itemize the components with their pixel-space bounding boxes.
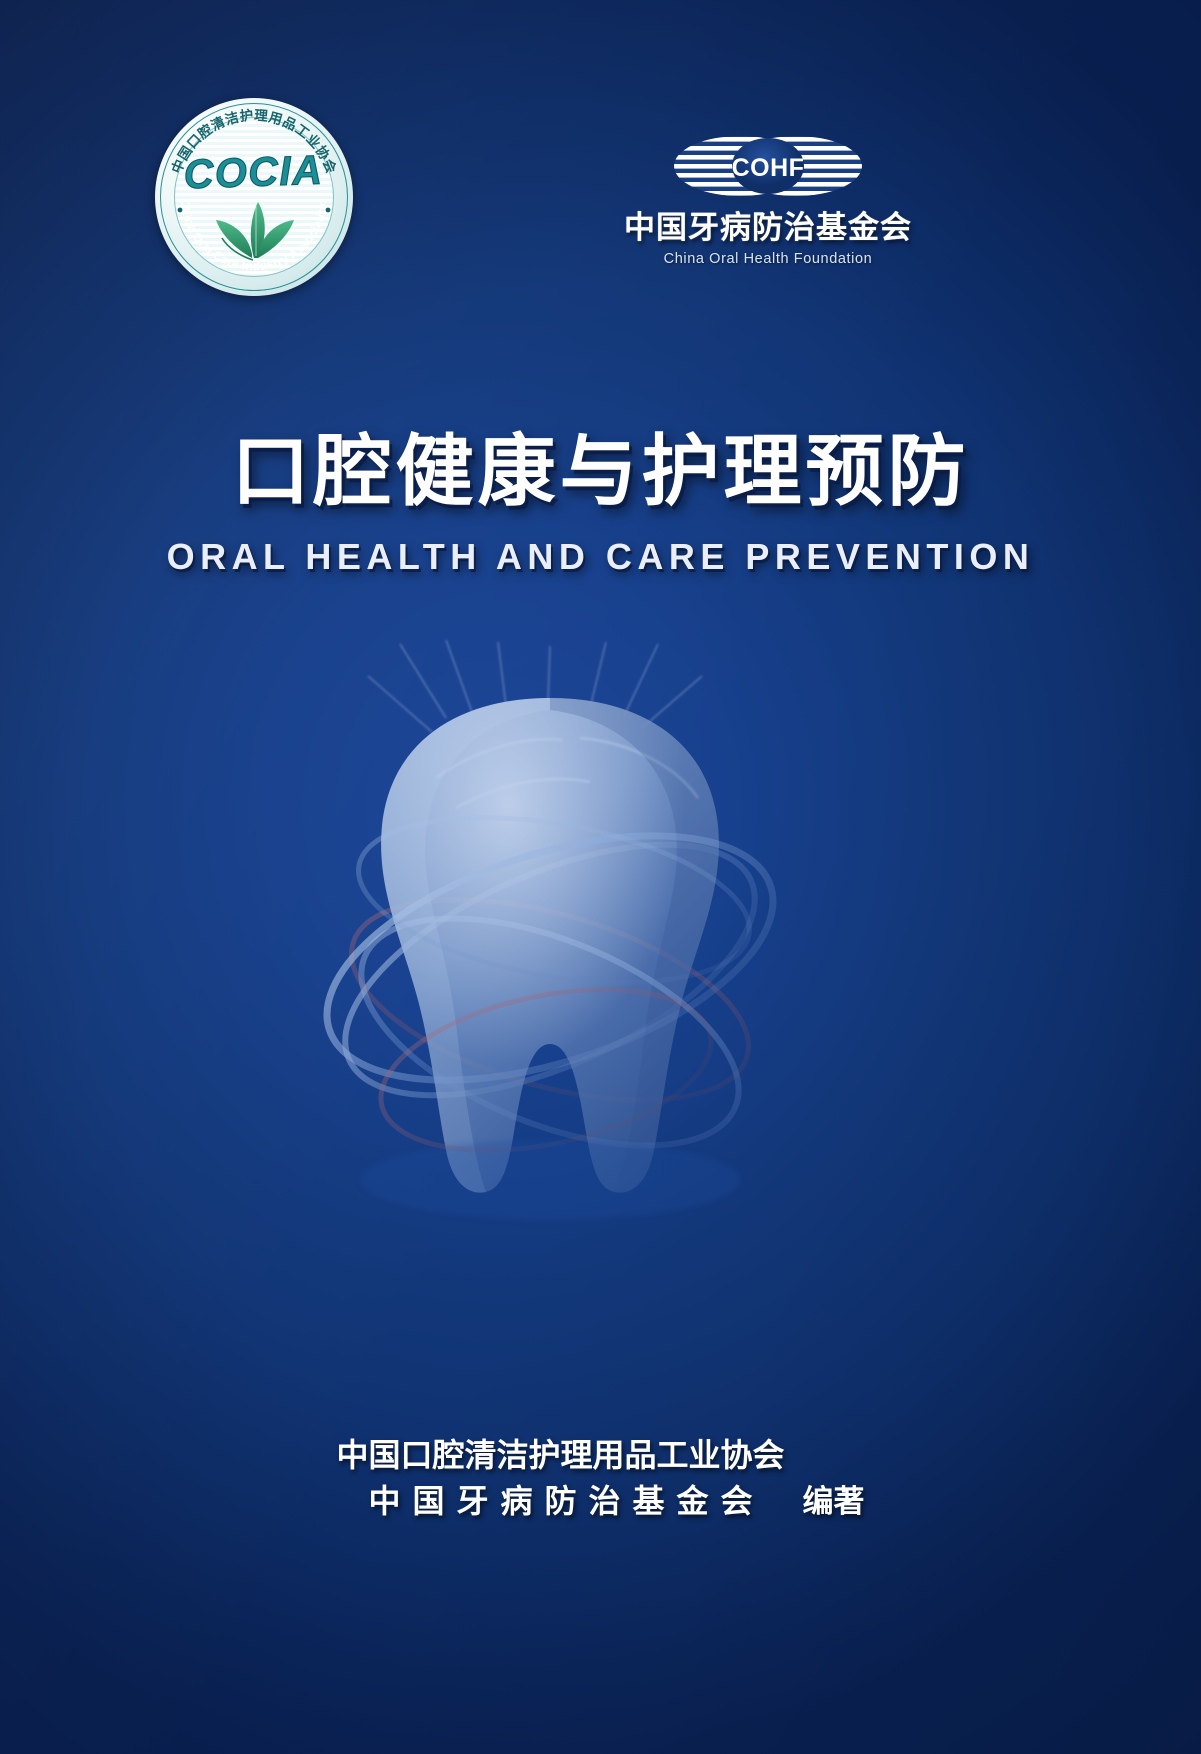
cohf-logo-graphics: COHF [668,130,868,202]
cocia-logo: 中国口腔清洁护理用品工业协会 China Oral Care Industry … [155,98,353,296]
author-line-2: 中国牙病防治基金会 [336,1478,784,1524]
author-role-label: 编著 [803,1476,865,1525]
cohf-logo-mark: COHF [668,130,868,202]
cocia-dot-right [326,208,331,213]
cohf-name-cn: 中国牙病防治基金会 [603,212,933,245]
tooth-graphics [250,640,870,1260]
tooth-ground-glow [360,1140,740,1220]
author-block: 中国口腔清洁护理用品工业协会 中国牙病防治基金会 编著 [0,1432,1201,1525]
book-title-en: ORAL HEALTH AND CARE PREVENTION [0,536,1201,578]
cocia-dot-left [178,208,183,213]
cohf-name-en: China Oral Health Foundation [603,251,933,267]
cocia-wordmark: COCIA [183,147,324,198]
title-block: 口腔健康与护理预防 ORAL HEALTH AND CARE PREVENTIO… [0,432,1201,578]
cocia-leaf-cluster [216,202,294,260]
cohf-acronym: COHF [732,154,805,182]
tooth-illustration [250,640,870,1260]
svg-text:COCIA: COCIA [183,147,324,198]
author-line-1: 中国口腔清洁护理用品工业协会 [336,1432,784,1478]
tooth-body [381,698,719,1193]
cocia-logo-graphics: 中国口腔清洁护理用品工业协会 China Oral Care Industry … [155,98,353,296]
author-names: 中国口腔清洁护理用品工业协会 中国牙病防治基金会 [336,1432,784,1525]
book-title-cn: 口腔健康与护理预防 [0,432,1201,510]
cohf-logo: COHF 中国牙病防治基金会 China Oral Health Foundat… [603,130,933,267]
book-cover: 中国口腔清洁护理用品工业协会 China Oral Care Industry … [0,0,1201,1754]
